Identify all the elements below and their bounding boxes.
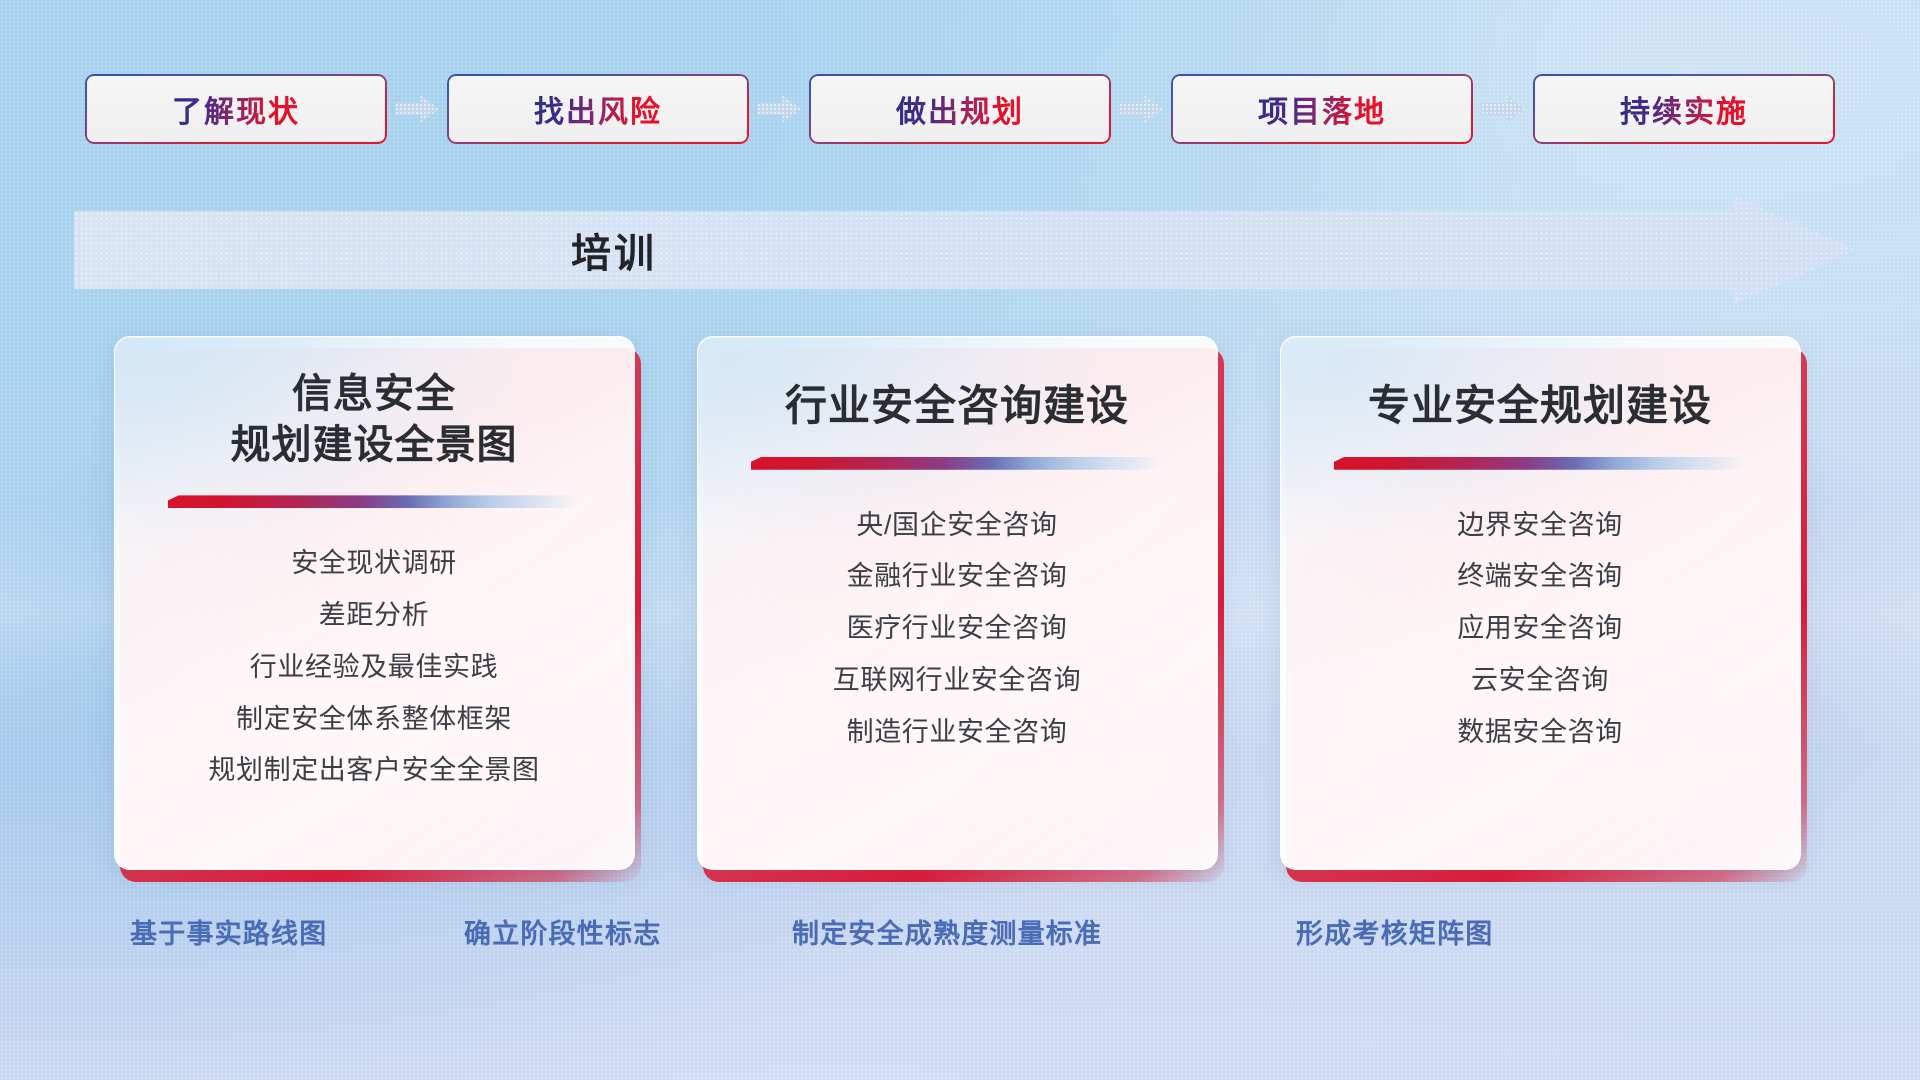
card-divider-bar <box>168 495 580 508</box>
card-title: 专业安全规划建设 <box>1305 379 1775 433</box>
list-item: 制造行业安全咨询 <box>847 711 1068 755</box>
step-pill-label: 找出风险 <box>534 87 662 131</box>
step-pill-4[interactable]: 项目落地 <box>1171 74 1473 144</box>
step-pill-3[interactable]: 做出规划 <box>809 74 1111 144</box>
footer-label-1: 基于事实路线图 <box>130 912 327 951</box>
capability-card-1[interactable]: 信息安全 规划建设全景图 安全现状调研 差距分析 行业经验及最佳实践 制定安全体… <box>114 336 641 882</box>
card-divider-bar <box>751 457 1163 470</box>
card-item-list: 安全现状调研 差距分析 行业经验及最佳实践 制定安全体系整体框架 规划制定出客户… <box>115 542 634 793</box>
card-divider <box>168 495 580 508</box>
card-title: 信息安全 规划建设全景图 <box>139 369 609 471</box>
card-title-line-2: 规划建设全景图 <box>139 420 609 471</box>
step-pill-1[interactable]: 了解现状 <box>85 74 387 144</box>
step-pill-label: 持续实施 <box>1620 87 1748 131</box>
card-title-line-1: 行业安全咨询建设 <box>722 379 1192 433</box>
step-pill-label: 做出规划 <box>896 87 1024 131</box>
list-item: 边界安全咨询 <box>1457 504 1623 548</box>
arrow-right-icon <box>387 86 447 132</box>
card-title-line-1: 信息安全 <box>139 369 609 420</box>
footer-labels-row: 基于事实路线图 确立阶段性标志 制定安全成熟度测量标准 形成考核矩阵图 <box>0 912 1920 968</box>
card-title-line-1: 专业安全规划建设 <box>1305 379 1775 433</box>
process-steps-row: 了解现状 找出风险 做出规划 项目落地 持续实施 <box>0 74 1920 144</box>
step-pill-label: 项目落地 <box>1258 87 1386 131</box>
card-surface: 信息安全 规划建设全景图 安全现状调研 差距分析 行业经验及最佳实践 制定安全体… <box>114 336 635 870</box>
training-banner-title: 培训 <box>74 221 1154 279</box>
step-pill-label: 了解现状 <box>172 87 300 131</box>
list-item: 互联网行业安全咨询 <box>833 659 1081 703</box>
footer-label-3: 制定安全成熟度测量标准 <box>792 912 1102 951</box>
card-divider <box>751 457 1163 470</box>
list-item: 安全现状调研 <box>291 542 457 586</box>
capability-cards-row: 信息安全 规划建设全景图 安全现状调研 差距分析 行业经验及最佳实践 制定安全体… <box>0 336 1920 882</box>
list-item: 规划制定出客户安全全景图 <box>208 749 539 793</box>
card-divider <box>1334 457 1746 470</box>
footer-label-4: 形成考核矩阵图 <box>1296 912 1493 951</box>
list-item: 云安全咨询 <box>1471 659 1609 703</box>
arrow-right-icon-texture <box>757 95 801 123</box>
card-item-list: 央/国企安全咨询 金融行业安全咨询 医疗行业安全咨询 互联网行业安全咨询 制造行… <box>698 504 1217 755</box>
card-surface: 专业安全规划建设 边界安全咨询 终端安全咨询 应用安全咨询 云安全咨询 数据安全… <box>1280 336 1801 870</box>
list-item: 金融行业安全咨询 <box>847 555 1068 599</box>
list-item: 行业经验及最佳实践 <box>250 646 498 690</box>
step-pill-2[interactable]: 找出风险 <box>447 74 749 144</box>
arrow-right-icon-texture <box>1119 95 1163 123</box>
list-item: 数据安全咨询 <box>1457 711 1623 755</box>
arrow-right-icon <box>1111 86 1171 132</box>
card-divider-bar <box>1334 457 1746 470</box>
arrow-right-icon <box>749 86 809 132</box>
list-item: 医疗行业安全咨询 <box>847 607 1068 651</box>
card-item-list: 边界安全咨询 终端安全咨询 应用安全咨询 云安全咨询 数据安全咨询 <box>1281 504 1800 755</box>
card-surface: 行业安全咨询建设 央/国企安全咨询 金融行业安全咨询 医疗行业安全咨询 互联网行… <box>697 336 1218 870</box>
step-pill-5[interactable]: 持续实施 <box>1533 74 1835 144</box>
list-item: 制定安全体系整体框架 <box>236 698 512 742</box>
capability-card-2[interactable]: 行业安全咨询建设 央/国企安全咨询 金融行业安全咨询 医疗行业安全咨询 互联网行… <box>697 336 1224 882</box>
arrow-right-icon-texture <box>1481 95 1525 123</box>
list-item: 差距分析 <box>319 594 429 638</box>
footer-label-2: 确立阶段性标志 <box>464 912 661 951</box>
capability-card-3[interactable]: 专业安全规划建设 边界安全咨询 终端安全咨询 应用安全咨询 云安全咨询 数据安全… <box>1280 336 1807 882</box>
training-banner: 培训 <box>74 196 1856 304</box>
list-item: 央/国企安全咨询 <box>856 504 1057 548</box>
list-item: 应用安全咨询 <box>1457 607 1623 651</box>
arrow-right-icon-texture <box>395 95 439 123</box>
list-item: 终端安全咨询 <box>1457 555 1623 599</box>
arrow-right-icon <box>1473 86 1533 132</box>
card-title: 行业安全咨询建设 <box>722 379 1192 433</box>
